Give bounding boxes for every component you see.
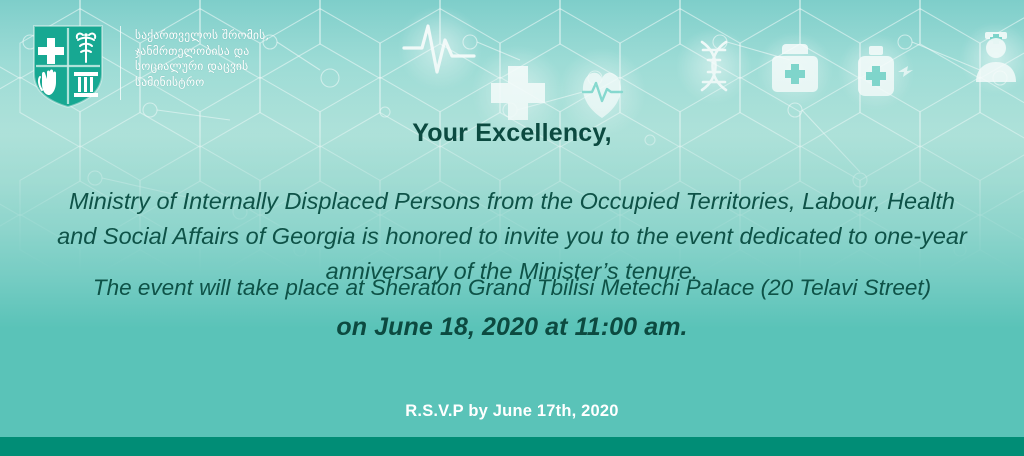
rsvp-note: R.S.V.P by June 17th, 2020 xyxy=(0,402,1024,421)
venue-paragraph: The event will take place at Sheraton Gr… xyxy=(50,271,974,304)
salutation: Your Excellency, xyxy=(0,119,1024,148)
footer-bar xyxy=(0,437,1024,456)
invitation-card: საქართველოს შრომის, ჯანმრთელობისა და სოც… xyxy=(0,0,1024,456)
invitation-content: Your Excellency, Ministry of Internally … xyxy=(0,0,1024,456)
datetime-paragraph: on June 18, 2020 at 11:00 am. xyxy=(0,313,1024,342)
